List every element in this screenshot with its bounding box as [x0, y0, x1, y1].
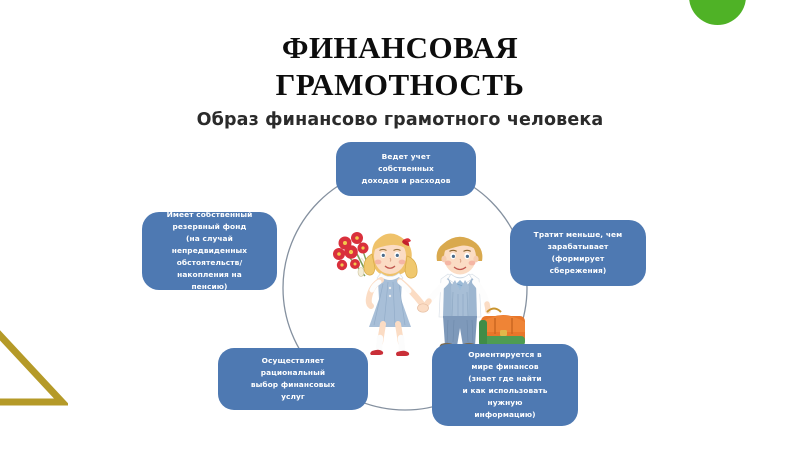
slide-canvas: ФИНАНСОВАЯ ГРАМОТНОСТЬ Образ финансово г…	[0, 0, 800, 450]
callout-top-line-2: собственных	[362, 163, 451, 175]
callout-bottom-left: Осуществляет рациональный выбор финансов…	[218, 348, 368, 410]
callout-bottom-right-line-3: (знает где найти	[463, 373, 548, 385]
callout-bottom-right: Ориентируется в мире финансов (знает где…	[432, 344, 578, 426]
callout-bottom-right-line-1: Ориентируется в	[463, 349, 548, 361]
gold-triangle-decoration	[0, 282, 68, 408]
callout-bottom-left-line-2: рациональный	[251, 367, 335, 379]
subtitle: Образ финансово грамотного человека	[0, 110, 800, 130]
callout-right-line-2: зарабатывает	[534, 241, 623, 253]
callout-left-line-1: Имеет собственный	[167, 209, 253, 221]
schoolchildren-illustration	[315, 212, 530, 360]
callout-top-line-1: Ведет учет	[362, 151, 451, 163]
callout-bottom-left-line-1: Осуществляет	[251, 355, 335, 367]
callout-left-line-6: накопления на	[167, 269, 253, 281]
callout-bottom-right-line-4: и как использовать	[463, 385, 548, 397]
callout-right-line-3: (формирует	[534, 253, 623, 265]
callout-top-line-3: доходов и расходов	[362, 175, 451, 187]
green-circle-decoration	[689, 0, 746, 25]
callout-left-line-7: пенсию)	[167, 281, 253, 293]
callout-left-line-5: обстоятельств/	[167, 257, 253, 269]
callout-left-line-3: (на случай	[167, 233, 253, 245]
callout-bottom-left-line-4: услуг	[251, 391, 335, 403]
callout-left-line-4: непредвиденных	[167, 245, 253, 257]
callout-left: Имеет собственный резервный фонд (на слу…	[142, 212, 277, 290]
callout-bottom-right-line-2: мире финансов	[463, 361, 548, 373]
main-title-line-1: ФИНАНСОВАЯ	[282, 30, 518, 65]
callout-right-line-1: Тратит меньше, чем	[534, 229, 623, 241]
page-title: ФИНАНСОВАЯ ГРАМОТНОСТЬ	[0, 30, 800, 103]
callout-right-line-4: сбережения)	[534, 265, 623, 277]
main-title: ФИНАНСОВАЯ ГРАМОТНОСТЬ	[0, 30, 800, 103]
diagram-container: Ведет учет собственных доходов и расходо…	[120, 130, 690, 430]
callout-left-line-2: резервный фонд	[167, 221, 253, 233]
callout-right: Тратит меньше, чем зарабатывает (формиру…	[510, 220, 646, 286]
callout-bottom-right-line-5: нужную	[463, 397, 548, 409]
school-satchel	[479, 309, 525, 347]
callout-top: Ведет учет собственных доходов и расходо…	[336, 142, 476, 196]
callout-bottom-right-line-6: информацию)	[463, 409, 548, 421]
callout-bottom-left-line-3: выбор финансовых	[251, 379, 335, 391]
main-title-line-2: ГРАМОТНОСТЬ	[276, 67, 525, 102]
